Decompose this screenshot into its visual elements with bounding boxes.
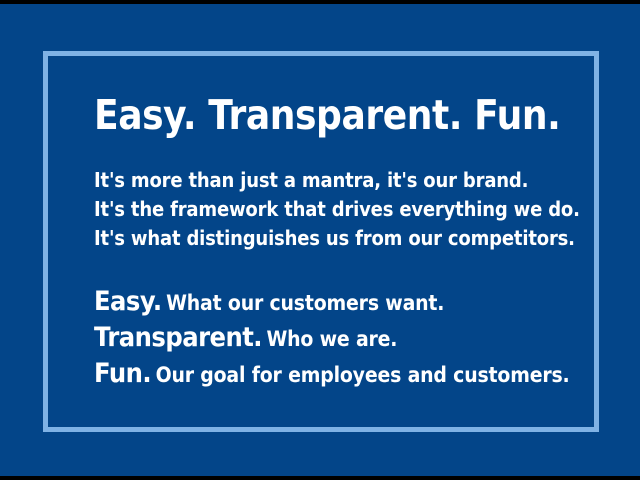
letterbox-bottom (0, 476, 640, 480)
intro-paragraph-line: It's more than just a mantra, it's our b… (94, 166, 517, 195)
values-list: Easy.What our customers want. Transparen… (94, 285, 564, 393)
value-lead-word: Fun. (94, 358, 151, 389)
intro-paragraph-line: It's the framework that drives everythin… (94, 195, 517, 224)
value-description: What our customers want. (162, 291, 445, 315)
value-item: Easy.What our customers want. (94, 285, 517, 321)
value-item: Transparent.Who we are. (94, 321, 517, 357)
value-description: Our goal for employees and customers. (151, 363, 570, 387)
value-description: Who we are. (262, 327, 397, 351)
page-title: Easy. Transparent. Fun. (94, 92, 508, 138)
slide-content: Easy. Transparent. Fun. It's more than j… (94, 92, 564, 393)
letterbox-top (0, 0, 640, 4)
value-lead-word: Transparent. (94, 322, 262, 353)
slide-canvas: Easy. Transparent. Fun. It's more than j… (0, 0, 640, 480)
intro-paragraph-line: It's what distinguishes us from our comp… (94, 224, 517, 253)
value-lead-word: Easy. (94, 286, 162, 317)
intro-paragraph: It's more than just a mantra, it's our b… (94, 166, 564, 253)
value-item: Fun.Our goal for employees and customers… (94, 357, 517, 393)
